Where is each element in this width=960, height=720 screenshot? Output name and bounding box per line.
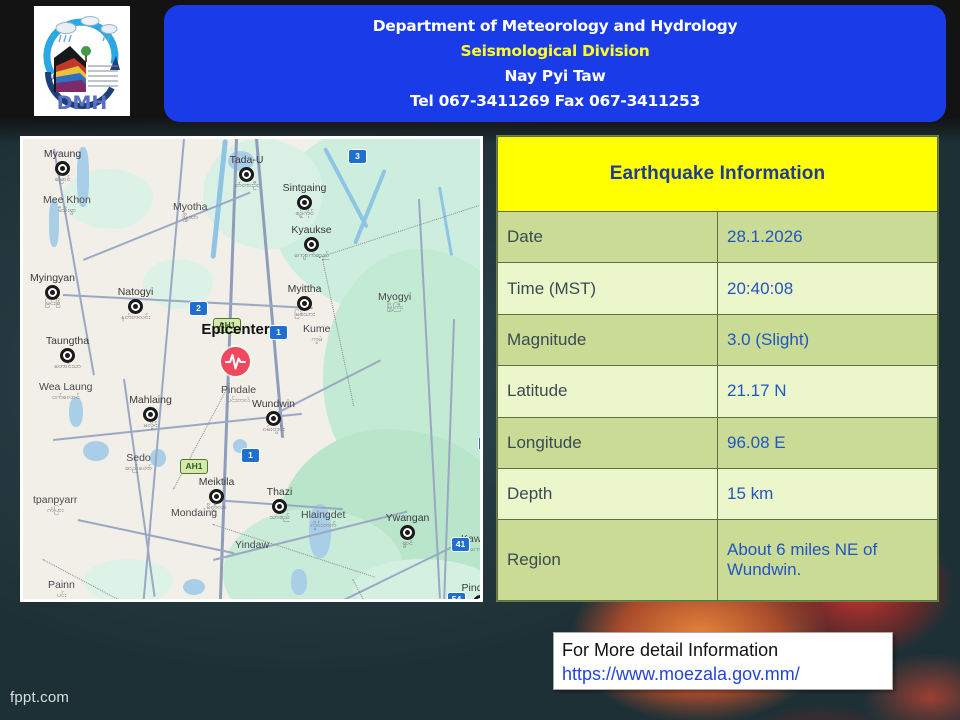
town-dot-icon	[473, 595, 480, 599]
map-town-name: Sintgaing	[283, 182, 327, 194]
table-row-value: 21.17 N	[718, 366, 938, 417]
road-shield-icon: AH1	[180, 459, 208, 474]
map-area-label-burmese: လှိုင်းတက်	[301, 521, 345, 531]
table-row: Time (MST)20:40:08	[498, 263, 938, 314]
table-row-label: Date	[498, 212, 718, 263]
more-info-label: For More detail Information	[562, 638, 884, 662]
map-canvas[interactable]: Mee KhonမီးခိုးရွာMyothaမြို့သာMyogyiမြိ…	[23, 139, 480, 599]
dmh-logo-svg: DMH	[34, 6, 130, 116]
map-town-marker[interactable]: Pindayaပင်းတယ	[473, 595, 480, 599]
map-town-name-burmese: မလှိုင်	[143, 421, 157, 431]
map-town-name-burmese: ကျောက်ဆည်	[294, 251, 329, 261]
table-row-label: Depth	[498, 468, 718, 519]
map-town-marker[interactable]: Myitthaမြစ်သား	[297, 296, 312, 311]
town-dot-icon	[45, 285, 60, 300]
road-shield-icon: 41	[451, 537, 470, 552]
map-town-name: Myittha	[288, 283, 322, 295]
map-area-label: Kumeကူမဲ	[303, 323, 330, 345]
map-area-label-burmese: ဝက်လောင်	[39, 393, 93, 403]
map-area-label-burmese: မီးခိုးရွာ	[43, 206, 91, 216]
town-dot-icon	[60, 348, 75, 363]
background-bottom-fade	[0, 698, 960, 720]
header-banner: Department of Meteorology and Hydrology …	[164, 5, 946, 122]
more-info-link[interactable]: https://www.moezala.gov.mm/	[562, 662, 884, 686]
map-town-name-burmese: မြစ်သား	[294, 310, 315, 320]
table-title: Earthquake Information	[498, 137, 938, 212]
town-dot-icon	[272, 499, 287, 514]
town-dot-icon	[266, 411, 281, 426]
map-town-marker[interactable]: Kyaukseကျောက်ဆည်	[304, 237, 319, 252]
map-town-name: Wundwin	[252, 398, 295, 410]
road	[78, 519, 235, 554]
road-shield-icon: 1	[241, 448, 260, 463]
map-town-name: Taungtha	[46, 335, 89, 347]
map-town-name: Myingyan	[30, 272, 75, 284]
table-row-value: 20:40:08	[718, 263, 938, 314]
map-town-name: Meiktila	[199, 476, 235, 488]
table-row-label: Magnitude	[498, 314, 718, 365]
map-area-label: Mee Khonမီးခိုးရွာ	[43, 194, 91, 216]
map-area-label: Hlaingdetလှိုင်းတက်	[301, 509, 345, 531]
table-row: Longitude96.08 E	[498, 417, 938, 468]
map-area-label: Wea Laungဝက်လောင်	[39, 381, 93, 403]
map-town-name: Thazi	[267, 486, 293, 498]
map-town-name-burmese: မြင်းခြံ	[45, 299, 61, 309]
map-town-name: Mahlaing	[129, 394, 172, 406]
epicenter-marker[interactable]: Epicenter	[221, 347, 250, 376]
table-row-value: 28.1.2026	[718, 212, 938, 263]
map-town-name-burmese: သာစည်	[269, 513, 289, 523]
town-dot-icon	[209, 489, 224, 504]
map-area-label: Pindaleပင်းတလဲ	[221, 384, 256, 406]
town-dot-icon	[297, 296, 312, 311]
map-town-name: Tada-U	[230, 154, 264, 166]
more-info-box[interactable]: For More detail Information https://www.…	[553, 632, 893, 690]
table-row-label: Latitude	[498, 366, 718, 417]
map-town-marker[interactable]: Myingyanမြင်းခြံ	[45, 285, 60, 300]
map-town-marker[interactable]: Myaungမြောင်	[55, 161, 70, 176]
seismograph-wave-icon	[221, 347, 250, 376]
terrain-area	[83, 559, 173, 599]
map-area-label: Painnပင်း	[48, 579, 75, 599]
map-town-name-burmese: မိတ္ထီလာ	[206, 503, 226, 513]
map-town-name-burmese: ဝမ်းတွင်း	[262, 425, 284, 435]
table-row-value: 96.08 E	[718, 417, 938, 468]
town-dot-icon	[55, 161, 70, 176]
table-row: Latitude21.17 N	[498, 366, 938, 417]
table-row-value: 15 km	[718, 468, 938, 519]
map-area-label: Myogyiမြို့ကြီး	[378, 291, 411, 313]
map-area-label-burmese: ကူမဲ	[303, 335, 330, 345]
map-town-marker[interactable]: Thaziသာစည်	[272, 499, 287, 514]
map-town-name-burmese: တောင်သာ	[54, 362, 81, 372]
table-row: Magnitude3.0 (Slight)	[498, 314, 938, 365]
map-town-marker[interactable]: Mahlaingမလှိုင်	[143, 407, 158, 422]
map-town-name-burmese: နတ်တလင်း	[121, 313, 150, 323]
map-town-name-burmese: စဉ့်ကိုင်	[295, 209, 314, 219]
map-panel[interactable]: Mee KhonမီးခိုးရွာMyothaမြို့သာMyogyiမြိ…	[20, 136, 483, 602]
table-row-label: Time (MST)	[498, 263, 718, 314]
map-town-marker[interactable]: Meiktilaမိတ္ထီလာ	[209, 489, 224, 504]
road-shield-icon: 1	[269, 325, 288, 340]
map-area-label: Yindaw	[235, 539, 269, 551]
water-body	[183, 579, 205, 595]
table-row-value: About 6 miles NE of Wundwin.	[718, 520, 938, 601]
town-dot-icon	[297, 195, 312, 210]
fppt-watermark: fppt.com	[10, 689, 69, 706]
map-town-marker[interactable]: Tada-Uတံတားဦး	[239, 167, 254, 182]
table-row: RegionAbout 6 miles NE of Wundwin.	[498, 520, 938, 601]
map-town-name-burmese: တံတားဦး	[235, 181, 259, 191]
road-shield-icon: 41	[478, 436, 480, 451]
road-shield-icon: 54	[447, 592, 466, 599]
map-town-marker[interactable]: Sintgaingစဉ့်ကိုင်	[297, 195, 312, 210]
town-dot-icon	[304, 237, 319, 252]
table-row: Depth15 km	[498, 468, 938, 519]
header-line-contact: Tel 067-3411269 Fax 067-3411253	[410, 89, 700, 113]
water-body	[83, 441, 109, 461]
map-area-label-burmese: ကံပြား	[33, 506, 77, 516]
table-row: Date28.1.2026	[498, 212, 938, 263]
map-area-label-burmese: မြို့သာ	[173, 213, 207, 223]
water-body	[150, 449, 166, 467]
map-town-name: Kyaukse	[291, 224, 331, 236]
table-row-value: 3.0 (Slight)	[718, 314, 938, 365]
map-town-marker[interactable]: Taungthaတောင်သာ	[60, 348, 75, 363]
map-town-name-burmese: မြောင်	[55, 175, 71, 185]
town-dot-icon	[128, 299, 143, 314]
map-area-label-burmese: ပင်းတလဲ	[221, 396, 256, 406]
map-town-name-burmese: ရွာငံ	[402, 539, 413, 549]
map-area-label-burmese: ပင်း	[48, 591, 75, 599]
table-row-label: Longitude	[498, 417, 718, 468]
map-area-label-burmese: ဆည်တော်	[125, 464, 152, 474]
header-line-division: Seismological Division	[461, 39, 650, 63]
dmh-logo: DMH	[34, 6, 130, 116]
map-area-label: tpanpyarrကံပြား	[33, 494, 77, 516]
map-town-name: Ywangan	[386, 512, 430, 524]
water-body	[291, 569, 307, 595]
map-town-marker[interactable]: Wundwinဝမ်းတွင်း	[266, 411, 281, 426]
map-town-marker[interactable]: Ywanganရွာငံ	[400, 525, 415, 540]
slide-canvas: DMH Department of Meteorology and Hydrol…	[0, 0, 960, 720]
town-dot-icon	[239, 167, 254, 182]
map-town-name: Natogyi	[118, 286, 154, 298]
table-row-label: Region	[498, 520, 718, 601]
map-town-marker[interactable]: Natogyiနတ်တလင်း	[128, 299, 143, 314]
header-line-city: Nay Pyi Taw	[505, 64, 606, 88]
map-area-label-burmese: မြို့ကြီး	[378, 303, 411, 313]
logo-text: DMH	[57, 92, 108, 114]
town-dot-icon	[400, 525, 415, 540]
road-shield-icon: 2	[189, 301, 208, 316]
map-area-label: Sedoဆည်တော်	[125, 452, 152, 474]
town-dot-icon	[143, 407, 158, 422]
road-shield-icon: 3	[348, 149, 367, 164]
map-area-label: Myothaမြို့သာ	[173, 201, 207, 223]
map-town-name: Myaung	[44, 148, 81, 160]
header-line-department: Department of Meteorology and Hydrology	[373, 14, 738, 38]
earthquake-info-table: Earthquake Information Date28.1.2026Time…	[497, 136, 938, 601]
epicenter-label: Epicenter	[201, 321, 269, 338]
